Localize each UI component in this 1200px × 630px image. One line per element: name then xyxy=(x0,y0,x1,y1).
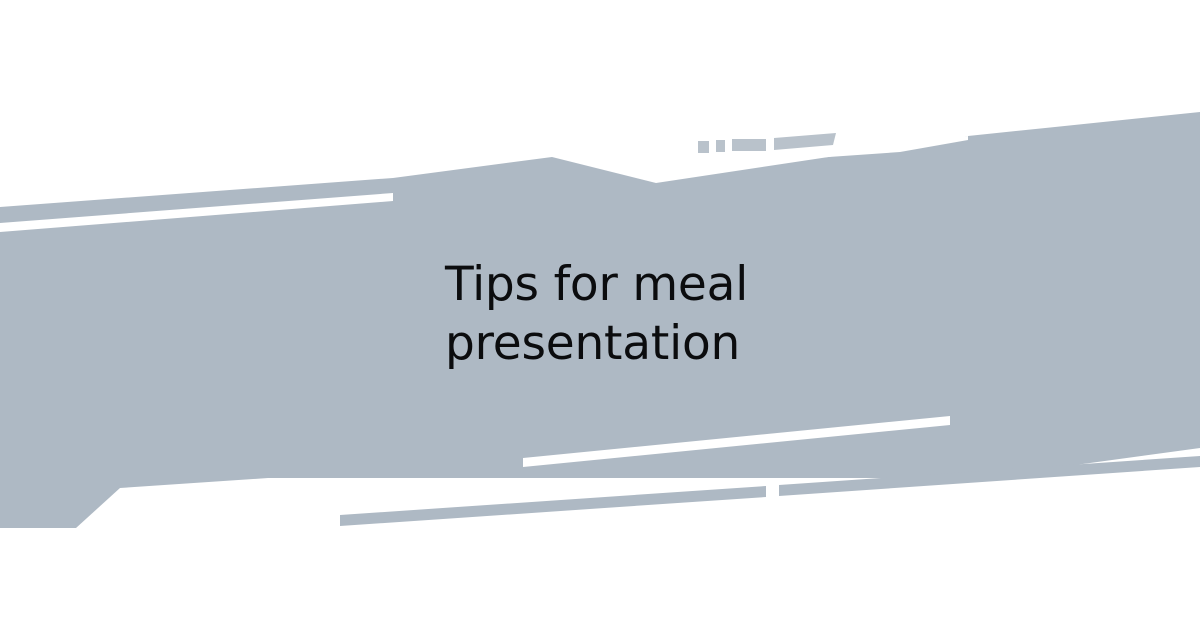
dash-icon xyxy=(716,140,725,152)
dash-icon xyxy=(340,486,766,526)
angular-gray-band xyxy=(0,112,1200,528)
dash-icon xyxy=(698,141,709,153)
dash-icon xyxy=(732,139,766,151)
banner-card: Tips for meal presentation xyxy=(0,0,1200,630)
decorative-background xyxy=(0,0,1200,630)
